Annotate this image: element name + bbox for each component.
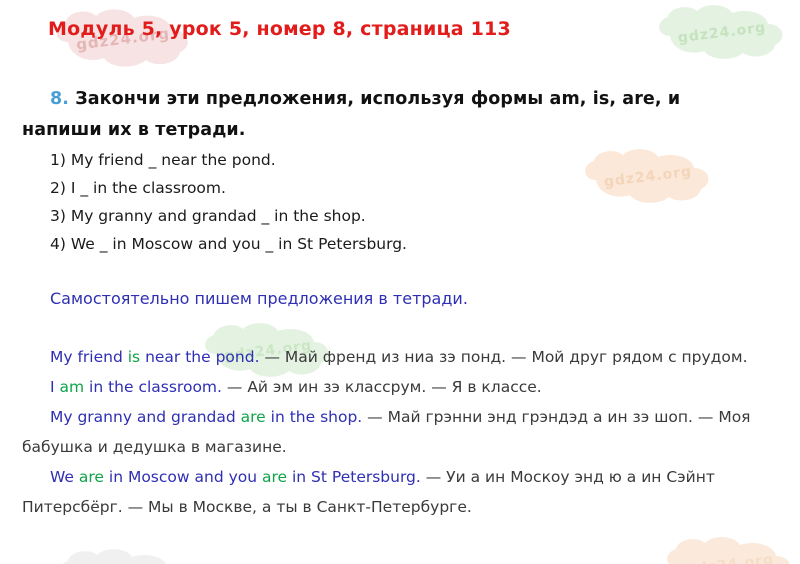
list-item: 1) My friend _ near the pond. [22, 146, 762, 174]
watermark-bottom-left: gdz24.org [52, 548, 192, 564]
page-title: Модуль 5, урок 5, номер 8, страница 113 [48, 18, 511, 40]
answers-section: My friend is near the pond. — Май френд … [22, 342, 762, 522]
task-instruction: 8. Закончи эти предложения, используя фо… [22, 84, 762, 146]
answer-verb: are [79, 468, 104, 486]
answer-transcription: — Май френд из ниа зэ понд. [260, 348, 507, 366]
task-instruction-text: Закончи эти предложения, используя формы… [22, 89, 680, 140]
watermark-top-right: gdz24.org [652, 4, 792, 62]
answer-transcription: — Май грэнни энд грэндэд а ин зэ шоп. [362, 408, 693, 426]
answer-verb: am [60, 378, 85, 396]
answer-english-after: in the classroom. [84, 378, 222, 396]
answer-english-after: in the shop. [266, 408, 363, 426]
watermark-bottom-right: gdz24.org [660, 536, 800, 564]
answer-english-before: I [50, 378, 60, 396]
answer-transcription: — Ай эм ин зэ классрум. [222, 378, 426, 396]
answer-english-after: near the pond. [140, 348, 259, 366]
list-item: 3) My granny and grandad _ in the shop. [22, 202, 762, 230]
answer-row: I am in the classroom. — Ай эм ин зэ кла… [22, 372, 762, 402]
exercise-item-list: 1) My friend _ near the pond. 2) I _ in … [22, 146, 762, 258]
watermark-cloud-icon [660, 536, 800, 564]
answer-verb-second: are [262, 468, 287, 486]
answer-english-mid: in Moscow and you [104, 468, 262, 486]
answer-translation: — Мы в Москве, а ты в Санкт-Петербурге. [123, 498, 472, 516]
watermark-text: gdz24.org [657, 528, 800, 564]
worksheet-page: gdz24.org gdz24.org gdz24.org gdz24.org [0, 0, 800, 564]
answer-row: We are in Moscow and you are in St Peter… [22, 462, 762, 522]
answer-row: My friend is near the pond. — Май френд … [22, 342, 762, 372]
watermark-cloud-icon [652, 4, 792, 62]
answer-verb: are [241, 408, 266, 426]
answer-row: My granny and grandad are in the shop. —… [22, 402, 762, 462]
list-item: 2) I _ in the classroom. [22, 174, 762, 202]
answer-translation: — Мой друг рядом с прудом. [506, 348, 747, 366]
answer-verb: is [128, 348, 140, 366]
answer-english-before: We [50, 468, 79, 486]
answer-english-before: My friend [50, 348, 128, 366]
watermark-cloud-icon [52, 548, 192, 564]
watermark-text: gdz24.org [649, 0, 795, 70]
answer-english-after: in St Petersburg. [287, 468, 421, 486]
task-number: 8. [50, 89, 69, 109]
answer-english-before: My granny and grandad [50, 408, 241, 426]
watermark-text: gdz24.org [49, 540, 195, 564]
answer-translation: — Я в классе. [426, 378, 541, 396]
self-work-note: Самостоятельно пишем предложения в тетра… [22, 286, 790, 312]
list-item: 4) We _ in Moscow and you _ in St Peters… [22, 230, 762, 258]
